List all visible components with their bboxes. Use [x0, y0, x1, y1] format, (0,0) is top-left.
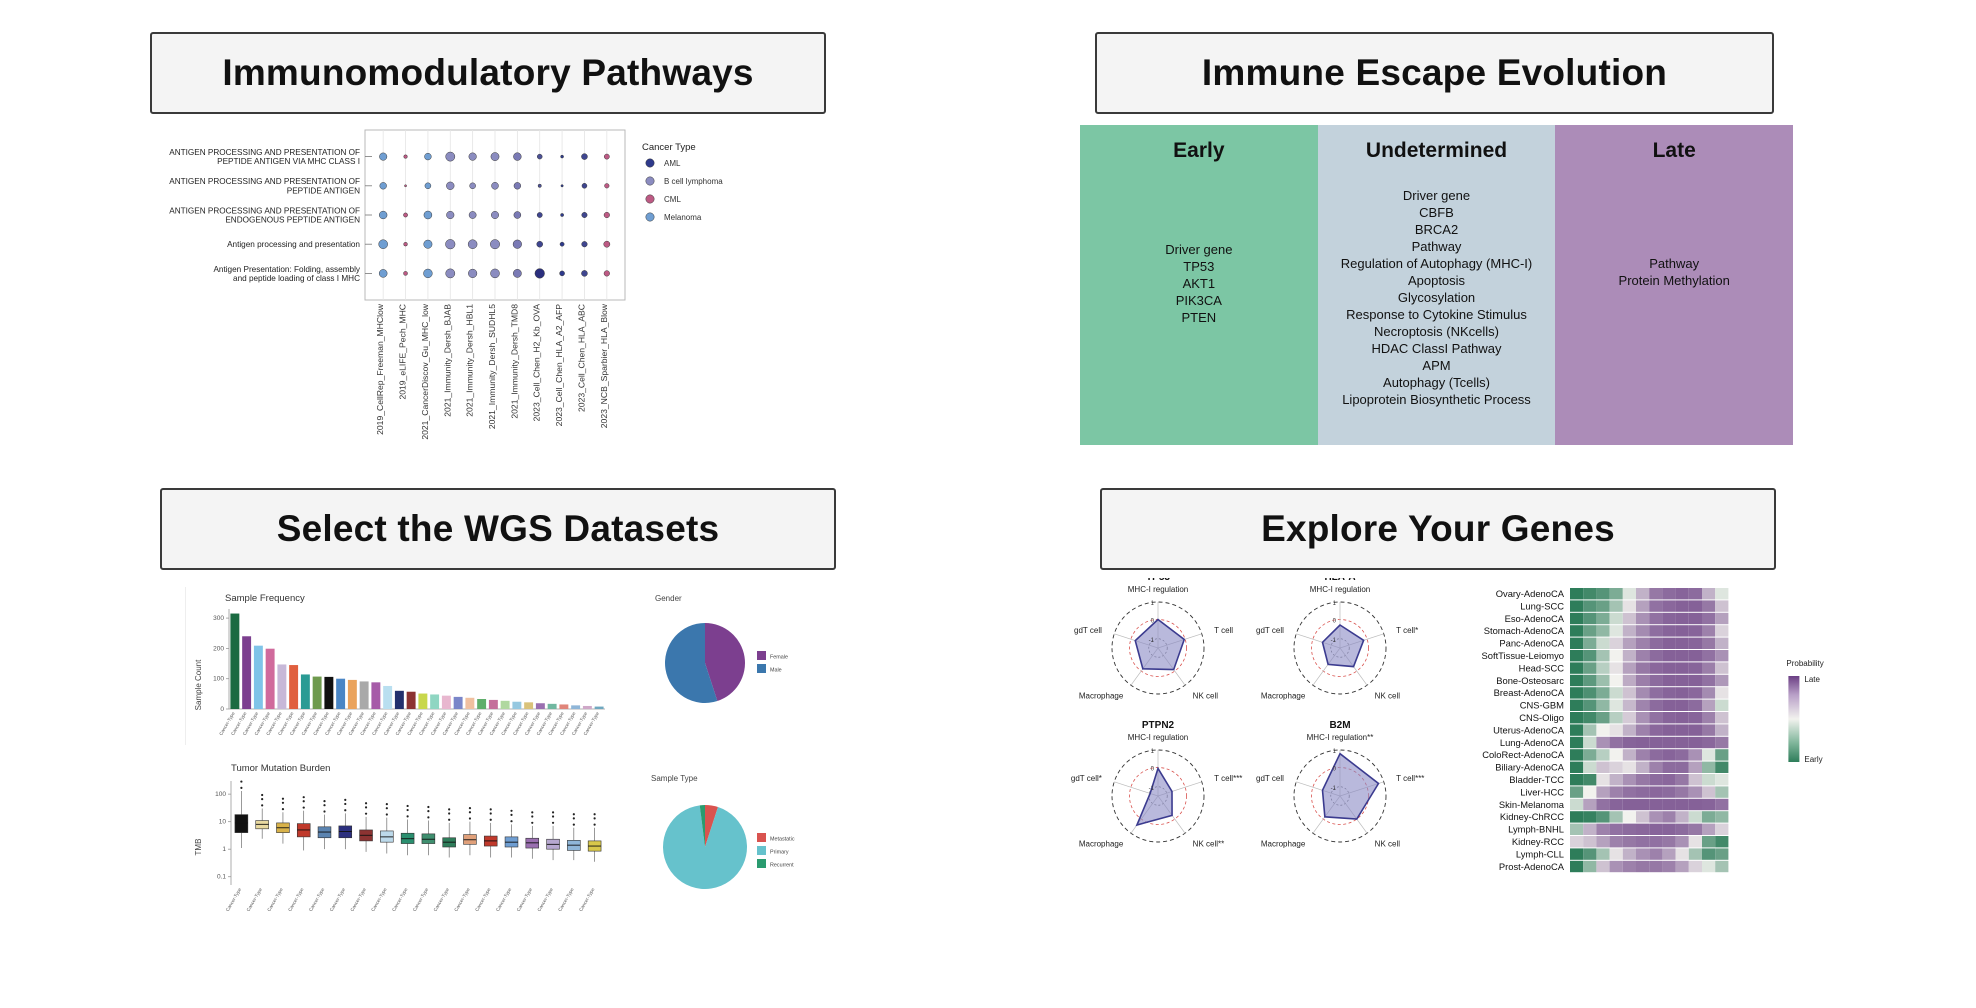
- heatmap-cell[interactable]: [1689, 811, 1702, 822]
- heatmap-cell[interactable]: [1676, 724, 1689, 735]
- bar[interactable]: [313, 677, 322, 709]
- heatmap-cell[interactable]: [1689, 638, 1702, 649]
- heatmap-cell[interactable]: [1610, 786, 1623, 797]
- heatmap-cell[interactable]: [1676, 774, 1689, 785]
- dotplot-point[interactable]: [379, 153, 387, 161]
- bar[interactable]: [595, 707, 604, 709]
- heatmap-cell[interactable]: [1583, 638, 1596, 649]
- heatmap-cell[interactable]: [1649, 861, 1662, 872]
- heatmap-cell[interactable]: [1596, 737, 1609, 748]
- heatmap-cell[interactable]: [1583, 786, 1596, 797]
- heatmap-cell[interactable]: [1570, 774, 1583, 785]
- radar-polygon[interactable]: [1137, 768, 1172, 825]
- heatmap-cell[interactable]: [1649, 824, 1662, 835]
- dotplot-point[interactable]: [468, 269, 477, 278]
- heatmap-cell[interactable]: [1623, 799, 1636, 810]
- bar[interactable]: [489, 700, 498, 709]
- heatmap-cell[interactable]: [1610, 588, 1623, 599]
- heatmap-cell[interactable]: [1702, 824, 1715, 835]
- heatmap-cell[interactable]: [1702, 848, 1715, 859]
- heatmap-cell[interactable]: [1636, 638, 1649, 649]
- heatmap-cell[interactable]: [1649, 712, 1662, 723]
- heatmap-cell[interactable]: [1570, 675, 1583, 686]
- heatmap-cell[interactable]: [1689, 650, 1702, 661]
- heatmap-cell[interactable]: [1702, 799, 1715, 810]
- heatmap-cell[interactable]: [1715, 650, 1728, 661]
- bar[interactable]: [571, 705, 580, 709]
- heatmap-cell[interactable]: [1662, 613, 1675, 624]
- heatmap-cell[interactable]: [1676, 749, 1689, 760]
- heatmap-cell[interactable]: [1676, 811, 1689, 822]
- bar[interactable]: [371, 682, 380, 709]
- dotplot-point[interactable]: [560, 271, 565, 276]
- heatmap-cell[interactable]: [1610, 662, 1623, 673]
- bar[interactable]: [266, 649, 275, 709]
- heatmap-cell[interactable]: [1649, 774, 1662, 785]
- heatmap-cell[interactable]: [1676, 687, 1689, 698]
- bar[interactable]: [418, 694, 427, 709]
- heatmap-cell[interactable]: [1702, 638, 1715, 649]
- bar[interactable]: [442, 696, 451, 709]
- heatmap-cell[interactable]: [1662, 749, 1675, 760]
- heatmap-cell[interactable]: [1583, 824, 1596, 835]
- heatmap-cell[interactable]: [1623, 638, 1636, 649]
- heatmap-cell[interactable]: [1596, 799, 1609, 810]
- heatmap-cell[interactable]: [1610, 749, 1623, 760]
- heatmap-cell[interactable]: [1649, 650, 1662, 661]
- dotplot-point[interactable]: [468, 240, 477, 249]
- heatmap-cell[interactable]: [1583, 737, 1596, 748]
- heatmap-cell[interactable]: [1649, 638, 1662, 649]
- heatmap-cell[interactable]: [1702, 687, 1715, 698]
- bar[interactable]: [548, 704, 557, 709]
- bar[interactable]: [289, 665, 298, 709]
- dotplot-point[interactable]: [380, 182, 387, 189]
- heatmap-cell[interactable]: [1676, 662, 1689, 673]
- heatmap-cell[interactable]: [1715, 613, 1728, 624]
- dotplot-point[interactable]: [535, 269, 545, 279]
- heatmap-cell[interactable]: [1649, 600, 1662, 611]
- heatmap-cell[interactable]: [1570, 687, 1583, 698]
- heatmap-cell[interactable]: [1715, 700, 1728, 711]
- heatmap-cell[interactable]: [1715, 749, 1728, 760]
- heatmap-cell[interactable]: [1583, 836, 1596, 847]
- heatmap-cell[interactable]: [1583, 762, 1596, 773]
- heatmap-cell[interactable]: [1676, 650, 1689, 661]
- heatmap-cell[interactable]: [1610, 762, 1623, 773]
- heatmap-cell[interactable]: [1649, 836, 1662, 847]
- heatmap-cell[interactable]: [1583, 700, 1596, 711]
- heatmap-cell[interactable]: [1583, 848, 1596, 859]
- dotplot-point[interactable]: [537, 241, 543, 247]
- heatmap-cell[interactable]: [1596, 638, 1609, 649]
- heatmap-cell[interactable]: [1662, 712, 1675, 723]
- heatmap-cell[interactable]: [1676, 737, 1689, 748]
- heatmap-cell[interactable]: [1636, 724, 1649, 735]
- heatmap-cell[interactable]: [1715, 786, 1728, 797]
- heatmap-cell[interactable]: [1596, 650, 1609, 661]
- dotplot-point[interactable]: [560, 242, 564, 246]
- heatmap-cell[interactable]: [1596, 700, 1609, 711]
- heatmap-cell[interactable]: [1676, 861, 1689, 872]
- heatmap-cell[interactable]: [1570, 625, 1583, 636]
- heatmap-cell[interactable]: [1662, 638, 1675, 649]
- heatmap-cell[interactable]: [1649, 848, 1662, 859]
- heatmap-cell[interactable]: [1570, 836, 1583, 847]
- heatmap-cell[interactable]: [1662, 700, 1675, 711]
- heatmap-cell[interactable]: [1649, 799, 1662, 810]
- heatmap-cell[interactable]: [1689, 799, 1702, 810]
- heatmap-cell[interactable]: [1662, 836, 1675, 847]
- heatmap-cell[interactable]: [1610, 774, 1623, 785]
- heatmap-cell[interactable]: [1676, 625, 1689, 636]
- heatmap-cell[interactable]: [1623, 774, 1636, 785]
- heatmap-cell[interactable]: [1636, 774, 1649, 785]
- heatmap-cell[interactable]: [1715, 625, 1728, 636]
- heatmap-cell[interactable]: [1702, 749, 1715, 760]
- heatmap-cell[interactable]: [1570, 700, 1583, 711]
- heatmap-cell[interactable]: [1610, 824, 1623, 835]
- heatmap-cell[interactable]: [1583, 811, 1596, 822]
- heatmap-cell[interactable]: [1636, 600, 1649, 611]
- heatmap-cell[interactable]: [1689, 786, 1702, 797]
- heatmap-cell[interactable]: [1702, 762, 1715, 773]
- bar[interactable]: [242, 636, 251, 709]
- dotplot-point[interactable]: [492, 182, 499, 189]
- heatmap-cell[interactable]: [1649, 762, 1662, 773]
- dotplot-point[interactable]: [425, 153, 432, 160]
- heatmap-cell[interactable]: [1610, 600, 1623, 611]
- heatmap-cell[interactable]: [1649, 662, 1662, 673]
- heatmap-cell[interactable]: [1623, 848, 1636, 859]
- heatmap-cell[interactable]: [1715, 687, 1728, 698]
- heatmap-cell[interactable]: [1636, 762, 1649, 773]
- heatmap-cell[interactable]: [1702, 613, 1715, 624]
- dotplot-point[interactable]: [537, 154, 542, 159]
- bar[interactable]: [230, 614, 239, 709]
- heatmap-cell[interactable]: [1583, 650, 1596, 661]
- heatmap-cell[interactable]: [1636, 848, 1649, 859]
- heatmap-cell[interactable]: [1702, 675, 1715, 686]
- dotplot-point[interactable]: [446, 269, 455, 278]
- heatmap-cell[interactable]: [1623, 786, 1636, 797]
- heatmap-cell[interactable]: [1689, 774, 1702, 785]
- heatmap-cell[interactable]: [1570, 762, 1583, 773]
- box[interactable]: [235, 815, 248, 833]
- heatmap-cell[interactable]: [1623, 613, 1636, 624]
- heatmap-cell[interactable]: [1649, 811, 1662, 822]
- dotplot-point[interactable]: [446, 182, 454, 190]
- heatmap-cell[interactable]: [1623, 600, 1636, 611]
- heatmap-cell[interactable]: [1583, 613, 1596, 624]
- dotplot-point[interactable]: [538, 184, 541, 187]
- heatmap-cell[interactable]: [1623, 588, 1636, 599]
- dotplot-point[interactable]: [404, 242, 408, 246]
- heatmap-cell[interactable]: [1689, 836, 1702, 847]
- heatmap-cell[interactable]: [1715, 712, 1728, 723]
- dotplot-point[interactable]: [469, 153, 477, 161]
- heatmap-cell[interactable]: [1689, 687, 1702, 698]
- heatmap-cell[interactable]: [1676, 836, 1689, 847]
- bar[interactable]: [254, 646, 263, 709]
- heatmap-cell[interactable]: [1702, 662, 1715, 673]
- heatmap-cell[interactable]: [1662, 650, 1675, 661]
- heatmap-cell[interactable]: [1662, 774, 1675, 785]
- heatmap-cell[interactable]: [1662, 625, 1675, 636]
- dotplot-point[interactable]: [582, 183, 587, 188]
- dotplot-point[interactable]: [513, 240, 522, 249]
- heatmap-cell[interactable]: [1662, 811, 1675, 822]
- heatmap-cell[interactable]: [1596, 861, 1609, 872]
- heatmap-cell[interactable]: [1649, 675, 1662, 686]
- heatmap-cell[interactable]: [1583, 600, 1596, 611]
- heatmap-cell[interactable]: [1636, 625, 1649, 636]
- heatmap-cell[interactable]: [1636, 712, 1649, 723]
- heatmap-cell[interactable]: [1702, 786, 1715, 797]
- heatmap-cell[interactable]: [1715, 811, 1728, 822]
- heatmap-cell[interactable]: [1623, 861, 1636, 872]
- heatmap-cell[interactable]: [1676, 675, 1689, 686]
- heatmap-cell[interactable]: [1662, 824, 1675, 835]
- heatmap-cell[interactable]: [1689, 700, 1702, 711]
- heatmap-cell[interactable]: [1689, 824, 1702, 835]
- heatmap-cell[interactable]: [1649, 687, 1662, 698]
- dotplot-point[interactable]: [513, 153, 521, 161]
- dotplot-point[interactable]: [604, 241, 610, 247]
- heatmap-cell[interactable]: [1610, 861, 1623, 872]
- bar[interactable]: [583, 706, 592, 709]
- heatmap-cell[interactable]: [1596, 848, 1609, 859]
- heatmap-cell[interactable]: [1702, 588, 1715, 599]
- heatmap-cell[interactable]: [1596, 625, 1609, 636]
- bar[interactable]: [477, 699, 486, 709]
- dotplot-point[interactable]: [604, 271, 610, 277]
- heatmap-cell[interactable]: [1689, 749, 1702, 760]
- heatmap-cell[interactable]: [1583, 588, 1596, 599]
- heatmap-cell[interactable]: [1623, 836, 1636, 847]
- heatmap-cell[interactable]: [1636, 613, 1649, 624]
- heatmap-cell[interactable]: [1662, 724, 1675, 735]
- heatmap-cell[interactable]: [1596, 749, 1609, 760]
- dotplot-point[interactable]: [537, 212, 542, 217]
- bar[interactable]: [395, 691, 404, 709]
- heatmap-cell[interactable]: [1649, 625, 1662, 636]
- heatmap-cell[interactable]: [1715, 774, 1728, 785]
- heatmap-cell[interactable]: [1689, 675, 1702, 686]
- heatmap-cell[interactable]: [1623, 650, 1636, 661]
- heatmap-cell[interactable]: [1570, 662, 1583, 673]
- heatmap-cell[interactable]: [1636, 687, 1649, 698]
- heatmap-cell[interactable]: [1596, 762, 1609, 773]
- dotplot-point[interactable]: [604, 154, 609, 159]
- heatmap-cell[interactable]: [1662, 762, 1675, 773]
- dotplot-point[interactable]: [581, 270, 587, 276]
- heatmap-cell[interactable]: [1596, 600, 1609, 611]
- dotplot-point[interactable]: [560, 213, 563, 216]
- heatmap-cell[interactable]: [1702, 650, 1715, 661]
- heatmap-cell[interactable]: [1623, 662, 1636, 673]
- heatmap-cell[interactable]: [1636, 824, 1649, 835]
- heatmap-cell[interactable]: [1702, 712, 1715, 723]
- bar[interactable]: [407, 692, 416, 709]
- dotplot-point[interactable]: [582, 212, 587, 217]
- dotplot-point[interactable]: [604, 212, 610, 218]
- bar[interactable]: [277, 664, 286, 709]
- heatmap-cell[interactable]: [1636, 662, 1649, 673]
- heatmap-cell[interactable]: [1702, 600, 1715, 611]
- heatmap-cell[interactable]: [1610, 638, 1623, 649]
- heatmap-cell[interactable]: [1610, 650, 1623, 661]
- heatmap-cell[interactable]: [1702, 737, 1715, 748]
- heatmap-cell[interactable]: [1676, 638, 1689, 649]
- heatmap-cell[interactable]: [1636, 737, 1649, 748]
- heatmap-cell[interactable]: [1702, 700, 1715, 711]
- heatmap-cell[interactable]: [1715, 675, 1728, 686]
- heatmap-cell[interactable]: [1610, 675, 1623, 686]
- heatmap-cell[interactable]: [1689, 737, 1702, 748]
- heatmap-cell[interactable]: [1715, 588, 1728, 599]
- heatmap-cell[interactable]: [1610, 712, 1623, 723]
- heatmap-cell[interactable]: [1570, 737, 1583, 748]
- heatmap-cell[interactable]: [1596, 675, 1609, 686]
- dotplot-point[interactable]: [379, 269, 387, 277]
- heatmap-cell[interactable]: [1702, 625, 1715, 636]
- heatmap-cell[interactable]: [1596, 613, 1609, 624]
- heatmap-cell[interactable]: [1715, 662, 1728, 673]
- heatmap-cell[interactable]: [1570, 799, 1583, 810]
- heatmap-cell[interactable]: [1570, 749, 1583, 760]
- heatmap-cell[interactable]: [1623, 675, 1636, 686]
- heatmap-cell[interactable]: [1689, 712, 1702, 723]
- dotplot-point[interactable]: [514, 212, 521, 219]
- bar[interactable]: [324, 677, 333, 709]
- heatmap-cell[interactable]: [1636, 675, 1649, 686]
- heatmap-cell[interactable]: [1649, 724, 1662, 735]
- heatmap-cell[interactable]: [1596, 824, 1609, 835]
- heatmap-cell[interactable]: [1662, 861, 1675, 872]
- dotplot-point[interactable]: [561, 155, 564, 158]
- bar[interactable]: [559, 704, 568, 709]
- heatmap-cell[interactable]: [1596, 712, 1609, 723]
- heatmap-cell[interactable]: [1649, 749, 1662, 760]
- heatmap-cell[interactable]: [1583, 861, 1596, 872]
- heatmap-cell[interactable]: [1676, 799, 1689, 810]
- heatmap-cell[interactable]: [1623, 762, 1636, 773]
- dotplot-point[interactable]: [469, 211, 476, 218]
- heatmap-cell[interactable]: [1570, 811, 1583, 822]
- heatmap-cell[interactable]: [1676, 824, 1689, 835]
- heatmap-cell[interactable]: [1570, 588, 1583, 599]
- heatmap-cell[interactable]: [1610, 700, 1623, 711]
- heatmap-cell[interactable]: [1662, 588, 1675, 599]
- heatmap-cell[interactable]: [1676, 588, 1689, 599]
- dotplot-point[interactable]: [581, 154, 587, 160]
- heatmap-cell[interactable]: [1689, 762, 1702, 773]
- heatmap-cell[interactable]: [1583, 687, 1596, 698]
- heatmap-cell[interactable]: [1689, 724, 1702, 735]
- heatmap-cell[interactable]: [1649, 700, 1662, 711]
- heatmap-cell[interactable]: [1649, 737, 1662, 748]
- dotplot-point[interactable]: [470, 183, 476, 189]
- heatmap-cell[interactable]: [1702, 811, 1715, 822]
- heatmap-cell[interactable]: [1596, 687, 1609, 698]
- heatmap-cell[interactable]: [1596, 662, 1609, 673]
- heatmap-cell[interactable]: [1662, 786, 1675, 797]
- heatmap-cell[interactable]: [1702, 836, 1715, 847]
- heatmap-cell[interactable]: [1676, 600, 1689, 611]
- heatmap-cell[interactable]: [1636, 700, 1649, 711]
- dotplot-point[interactable]: [491, 269, 500, 278]
- heatmap-cell[interactable]: [1715, 737, 1728, 748]
- heatmap-cell[interactable]: [1636, 799, 1649, 810]
- dotplot-point[interactable]: [561, 185, 563, 187]
- heatmap-cell[interactable]: [1715, 824, 1728, 835]
- heatmap-cell[interactable]: [1570, 848, 1583, 859]
- dotplot-point[interactable]: [425, 183, 431, 189]
- heatmap-cell[interactable]: [1610, 811, 1623, 822]
- dotplot-point[interactable]: [403, 213, 407, 217]
- heatmap-cell[interactable]: [1623, 625, 1636, 636]
- heatmap-cell[interactable]: [1596, 836, 1609, 847]
- heatmap-cell[interactable]: [1676, 786, 1689, 797]
- heatmap-cell[interactable]: [1662, 737, 1675, 748]
- heatmap-cell[interactable]: [1689, 848, 1702, 859]
- heatmap-cell[interactable]: [1715, 848, 1728, 859]
- heatmap-cell[interactable]: [1676, 700, 1689, 711]
- heatmap-cell[interactable]: [1715, 836, 1728, 847]
- heatmap-cell[interactable]: [1583, 799, 1596, 810]
- heatmap-cell[interactable]: [1623, 749, 1636, 760]
- bar[interactable]: [454, 697, 463, 709]
- heatmap-cell[interactable]: [1610, 799, 1623, 810]
- heatmap-cell[interactable]: [1610, 687, 1623, 698]
- heatmap-cell[interactable]: [1623, 724, 1636, 735]
- heatmap-cell[interactable]: [1610, 848, 1623, 859]
- heatmap-cell[interactable]: [1623, 824, 1636, 835]
- heatmap-cell[interactable]: [1662, 675, 1675, 686]
- heatmap-cell[interactable]: [1649, 613, 1662, 624]
- heatmap-cell[interactable]: [1570, 824, 1583, 835]
- dotplot-point[interactable]: [424, 240, 432, 248]
- heatmap-cell[interactable]: [1583, 724, 1596, 735]
- heatmap-cell[interactable]: [1596, 724, 1609, 735]
- heatmap-cell[interactable]: [1636, 749, 1649, 760]
- heatmap-cell[interactable]: [1715, 762, 1728, 773]
- heatmap-cell[interactable]: [1662, 662, 1675, 673]
- heatmap-cell[interactable]: [1596, 774, 1609, 785]
- heatmap-cell[interactable]: [1649, 786, 1662, 797]
- heatmap-cell[interactable]: [1623, 737, 1636, 748]
- heatmap-cell[interactable]: [1610, 724, 1623, 735]
- heatmap-cell[interactable]: [1676, 613, 1689, 624]
- dotplot-point[interactable]: [424, 269, 433, 278]
- heatmap-cell[interactable]: [1610, 613, 1623, 624]
- bar[interactable]: [348, 680, 357, 709]
- heatmap-cell[interactable]: [1570, 786, 1583, 797]
- heatmap-cell[interactable]: [1689, 600, 1702, 611]
- heatmap-cell[interactable]: [1623, 712, 1636, 723]
- bar[interactable]: [301, 674, 310, 709]
- heatmap-cell[interactable]: [1610, 836, 1623, 847]
- heatmap-cell[interactable]: [1636, 650, 1649, 661]
- heatmap-cell[interactable]: [1689, 625, 1702, 636]
- bar[interactable]: [501, 701, 510, 709]
- heatmap-cell[interactable]: [1583, 625, 1596, 636]
- dotplot-point[interactable]: [491, 153, 499, 161]
- heatmap-cell[interactable]: [1596, 811, 1609, 822]
- heatmap-cell[interactable]: [1662, 600, 1675, 611]
- heatmap-cell[interactable]: [1636, 861, 1649, 872]
